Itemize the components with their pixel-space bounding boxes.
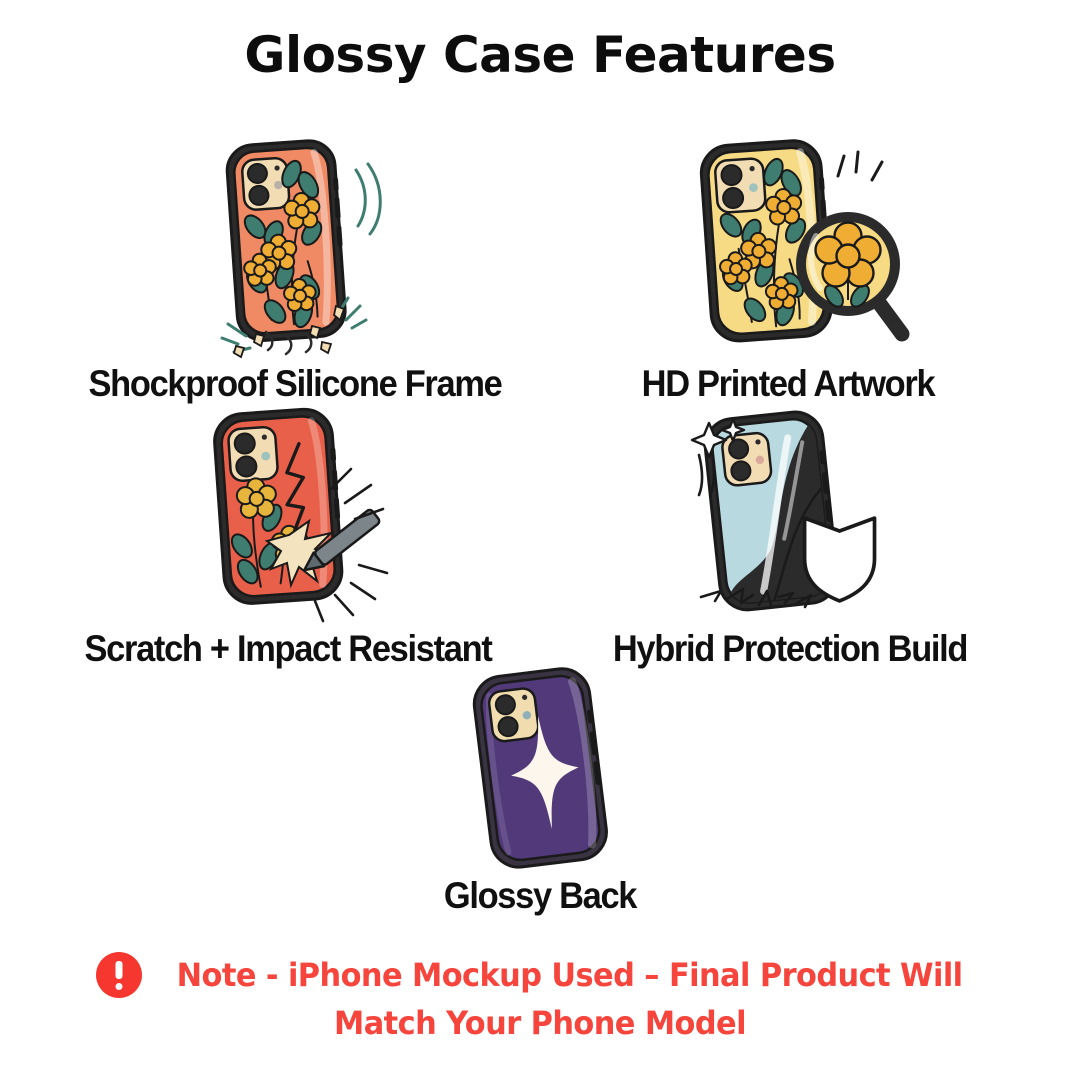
- phone-case-scratch-blade-illustration: [48, 393, 528, 628]
- phone-case-sparkle-illustration: [300, 660, 780, 875]
- note-banner: Note - iPhone Mockup Used – Final Produc…: [0, 952, 1080, 1042]
- phone-case-impact-illustration: [55, 128, 535, 363]
- feature-card-scratch-impact: Scratch + Impact Resistant: [48, 393, 528, 670]
- feature-card-shockproof: Shockproof Silicone Frame: [55, 128, 535, 405]
- note-text-line2: Match Your Phone Model: [27, 1004, 1053, 1042]
- glossy-case-features-infographic: Glossy Case Features: [0, 0, 1080, 1080]
- phone-case-shield-illustration: [550, 393, 1030, 628]
- phone-case-magnifier-illustration: [548, 128, 1028, 363]
- hd-print-svg: [658, 128, 918, 363]
- note-text-line1: Note - iPhone Mockup Used – Final Produc…: [177, 956, 963, 994]
- note-line-1: Note - iPhone Mockup Used – Final Produc…: [0, 952, 1080, 998]
- glossy-back-svg: [440, 660, 640, 875]
- scratch-impact-svg: [163, 393, 413, 628]
- feature-card-hd-print: HD Printed Artwork: [548, 128, 1028, 405]
- page-title: Glossy Case Features: [0, 26, 1080, 84]
- feature-card-glossy-back: Glossy Back: [300, 660, 780, 917]
- shockproof-svg: [170, 128, 420, 363]
- feature-label-glossy-back: Glossy Back: [317, 875, 763, 917]
- hybrid-protection-svg: [665, 393, 915, 628]
- exclamation-circle-icon: [96, 952, 142, 998]
- feature-card-hybrid-protection: Hybrid Protection Build: [550, 393, 1030, 670]
